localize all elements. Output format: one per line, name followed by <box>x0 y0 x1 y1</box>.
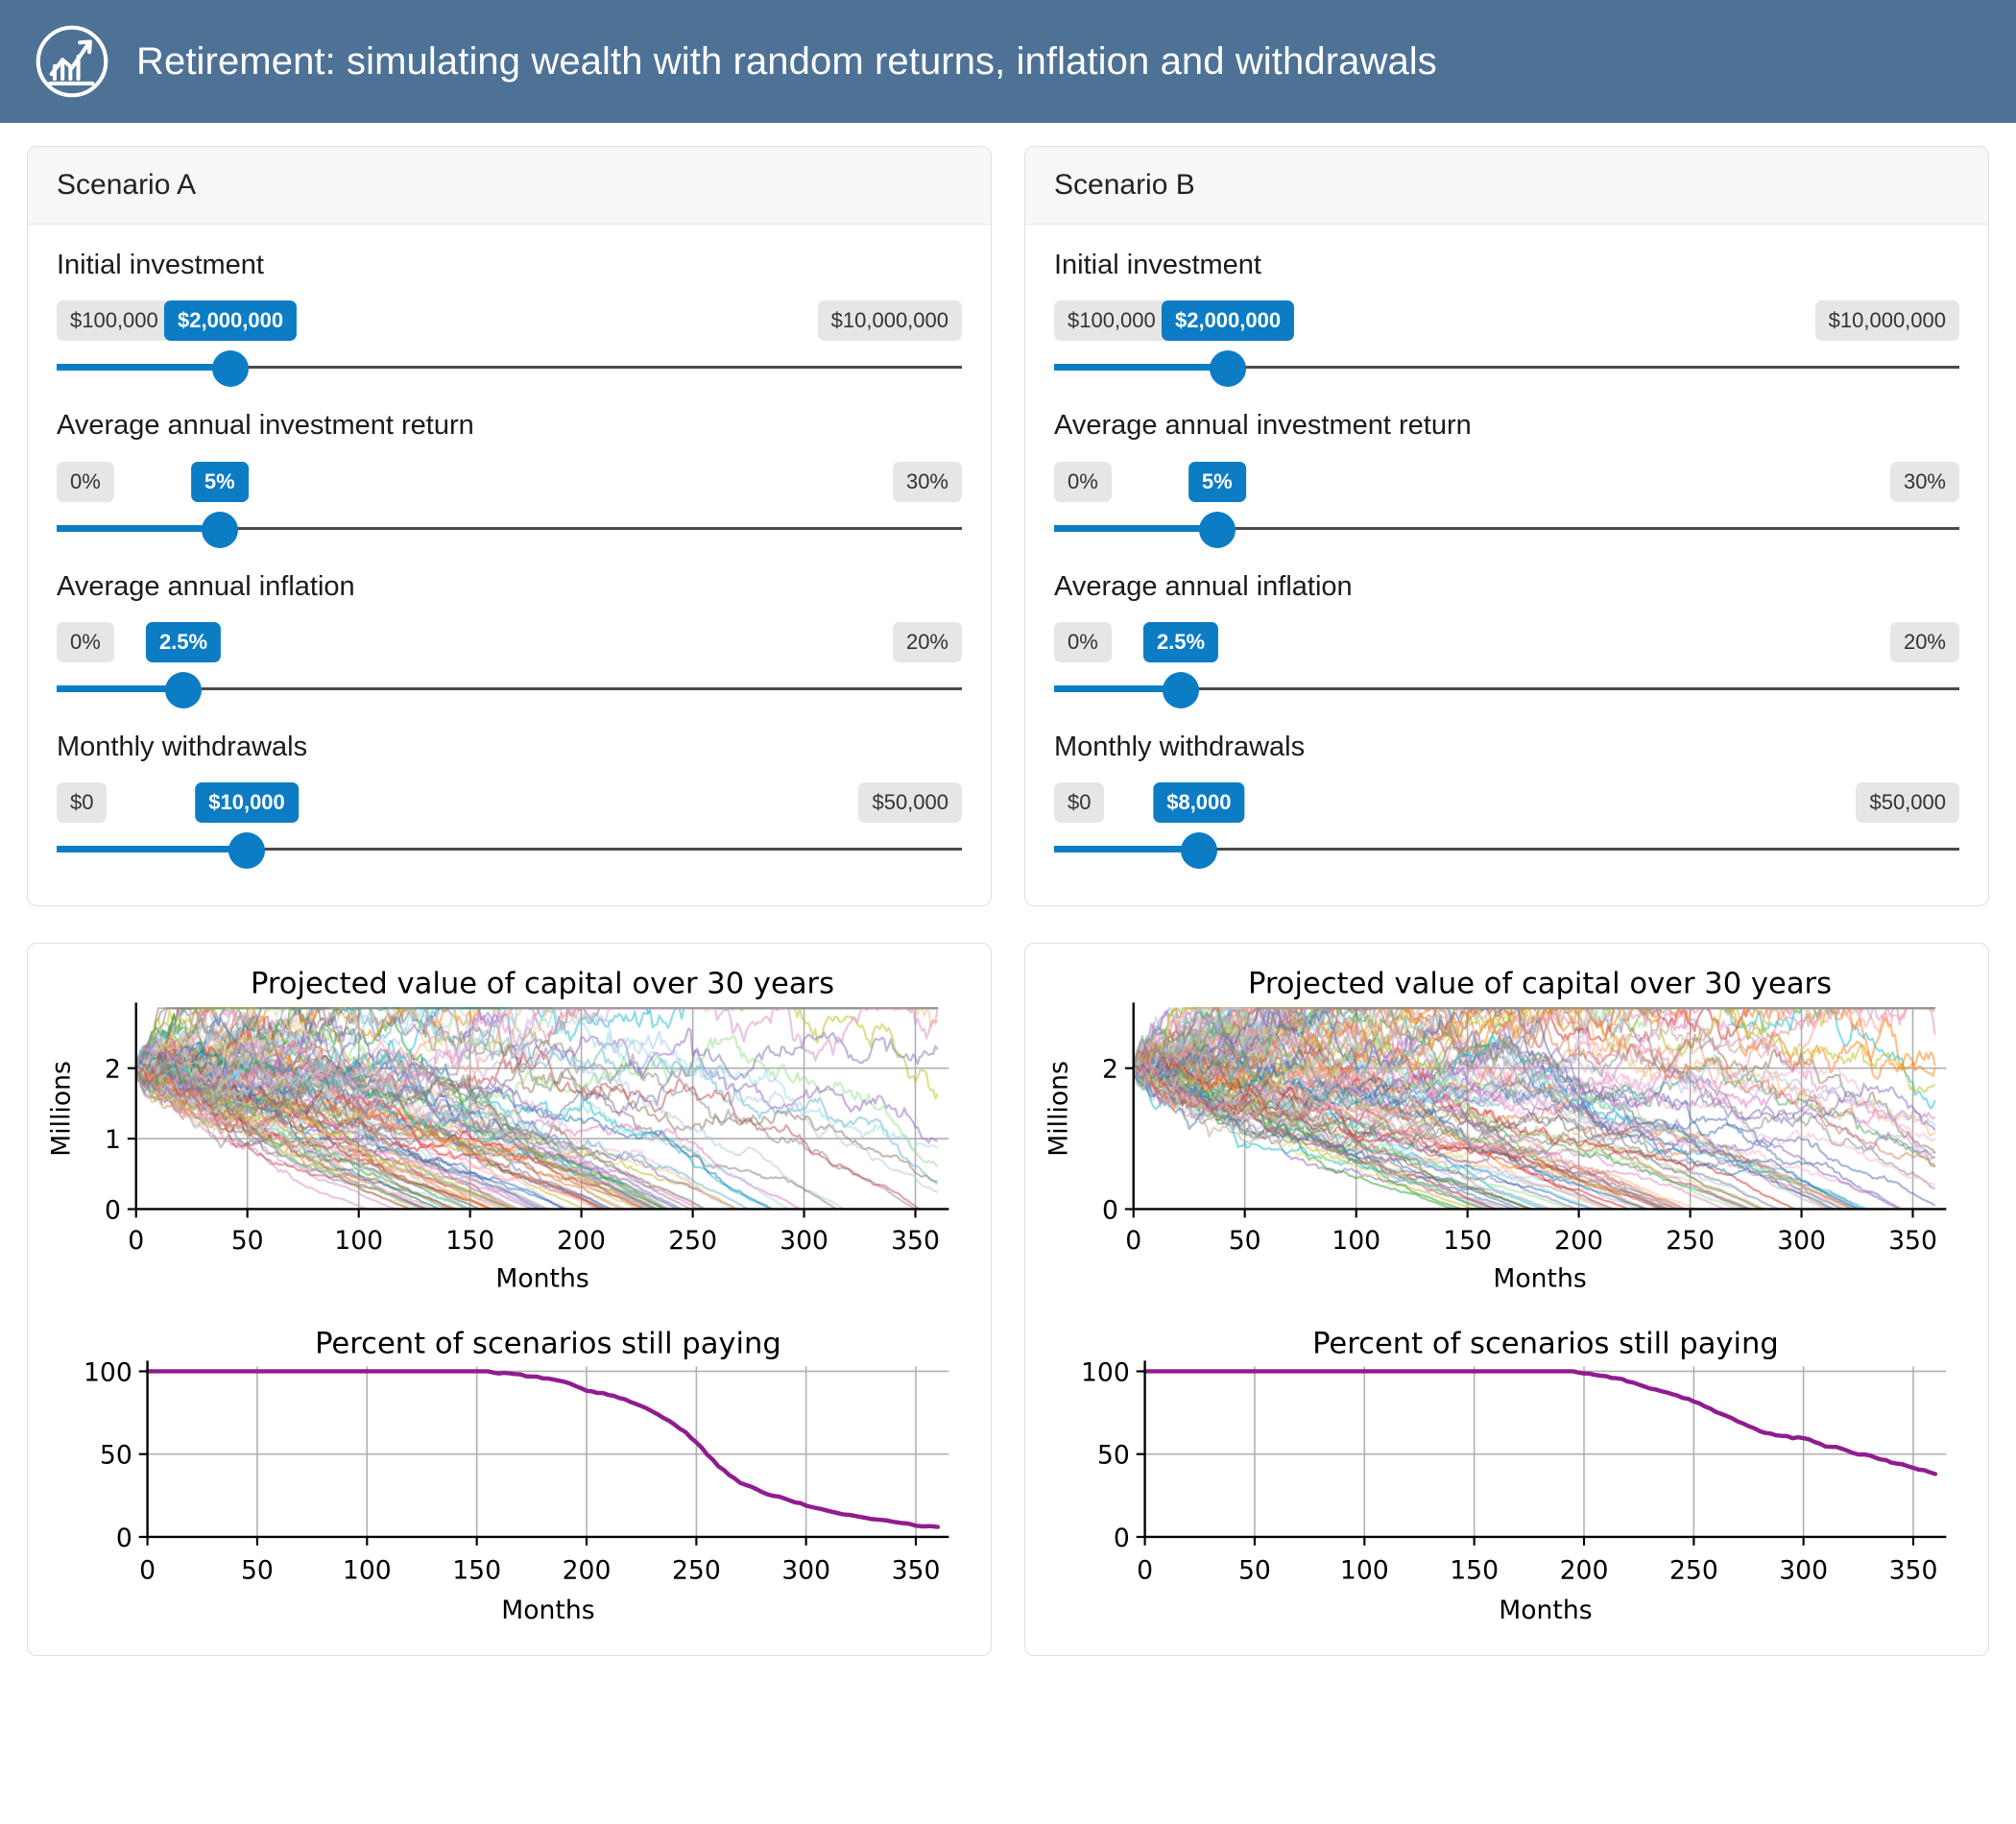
control-pills: $0 $10,000 $50,000 <box>57 782 962 825</box>
slider-thumb[interactable] <box>1163 672 1199 708</box>
slider-max-label: 20% <box>893 622 962 662</box>
svg-text:Percent of scenarios still pay: Percent of scenarios still paying <box>1312 1327 1779 1360</box>
svg-text:Projected value of capital ove: Projected value of capital over 30 years <box>1248 968 1832 1001</box>
control-initial-investment-b: Initial investment $100,000 $2,000,000 $… <box>1054 250 1959 387</box>
slider-fill <box>57 846 247 852</box>
slider-thumb[interactable] <box>165 672 202 708</box>
scenario-b-title: Scenario B <box>1054 169 1959 202</box>
svg-text:0: 0 <box>116 1523 132 1552</box>
slider-min-label: $0 <box>1054 782 1104 823</box>
slider-min-label: 0% <box>57 622 114 662</box>
page-title: Retirement: simulating wealth with rando… <box>136 40 1437 84</box>
slider-value-badge: 2.5% <box>146 622 221 662</box>
slider-min-label: $0 <box>57 782 107 823</box>
slider-average-annual-inflation-a[interactable] <box>57 670 962 708</box>
control-pills: $100,000 $2,000,000 $10,000,000 <box>1054 300 1959 343</box>
svg-text:200: 200 <box>563 1555 612 1585</box>
svg-text:250: 250 <box>672 1555 721 1585</box>
slider-average-annual-investment-return-b[interactable] <box>1054 510 1959 548</box>
control-monthly-withdrawals-b: Monthly withdrawals $0 $8,000 $50,000 <box>1054 732 1959 869</box>
svg-text:150: 150 <box>1443 1226 1492 1256</box>
svg-text:100: 100 <box>343 1555 392 1585</box>
slider-initial-investment-b[interactable] <box>1054 348 1959 387</box>
page-content: Scenario A Initial investment $100,000 $… <box>0 123 2016 1656</box>
slider-fill <box>1054 525 1217 532</box>
control-initial-investment-a: Initial investment $100,000 $2,000,000 $… <box>57 250 962 387</box>
svg-text:100: 100 <box>1332 1226 1380 1256</box>
svg-text:300: 300 <box>781 1555 830 1585</box>
control-monthly-withdrawals-a: Monthly withdrawals $0 $10,000 $50,000 <box>57 732 962 869</box>
svg-text:2: 2 <box>105 1055 121 1085</box>
figure-percent-b: 050100150200250300350050100MonthsPercent… <box>1043 1319 1971 1637</box>
slider-value-badge: 5% <box>1188 462 1246 502</box>
slider-max-label: 30% <box>1890 462 1959 502</box>
control-pills: 0% 2.5% 20% <box>57 622 962 664</box>
slider-initial-investment-a[interactable] <box>57 348 962 387</box>
control-pills: 0% 5% 30% <box>1054 462 1959 504</box>
svg-text:100: 100 <box>334 1226 383 1256</box>
scenario-a-header: Scenario A <box>28 147 991 225</box>
svg-text:50: 50 <box>1097 1440 1130 1470</box>
svg-text:0: 0 <box>1125 1226 1141 1256</box>
svg-text:0: 0 <box>139 1555 156 1585</box>
svg-text:150: 150 <box>452 1555 501 1585</box>
slider-value-badge: $2,000,000 <box>1162 300 1294 341</box>
svg-text:Months: Months <box>1499 1595 1592 1624</box>
scenario-b-controls: Initial investment $100,000 $2,000,000 $… <box>1025 225 1988 905</box>
svg-text:300: 300 <box>1777 1226 1826 1256</box>
svg-text:300: 300 <box>1779 1555 1828 1585</box>
scenario-b-card: Scenario B Initial investment $100,000 $… <box>1024 146 1989 906</box>
control-label: Monthly withdrawals <box>57 732 962 763</box>
slider-thumb[interactable] <box>1181 832 1217 869</box>
slider-fill <box>57 525 220 532</box>
scenario-a-figures: 050100150200250300350012MonthsMillionsPr… <box>28 944 991 1655</box>
slider-thumb[interactable] <box>228 832 265 869</box>
svg-text:Millions: Millions <box>1044 1061 1074 1157</box>
control-label: Monthly withdrawals <box>1054 732 1959 763</box>
scenario-a-charts-card: 050100150200250300350012MonthsMillionsPr… <box>27 943 992 1656</box>
control-pills: $100,000 $2,000,000 $10,000,000 <box>57 300 962 343</box>
control-average-annual-inflation-b: Average annual inflation 0% 2.5% 20% <box>1054 571 1959 708</box>
svg-text:Months: Months <box>1493 1264 1586 1294</box>
svg-text:200: 200 <box>1554 1226 1603 1256</box>
slider-value-badge: $2,000,000 <box>164 300 297 341</box>
svg-text:Millions: Millions <box>47 1061 77 1157</box>
slider-max-label: $50,000 <box>1856 782 1959 823</box>
svg-text:200: 200 <box>1560 1555 1609 1585</box>
svg-text:0: 0 <box>1114 1523 1130 1552</box>
slider-average-annual-inflation-b[interactable] <box>1054 670 1959 708</box>
svg-text:0: 0 <box>128 1226 144 1256</box>
scenario-b-charts-card: 05010015020025030035002MonthsMillionsPro… <box>1024 943 1989 1656</box>
svg-text:350: 350 <box>892 1555 941 1585</box>
svg-text:Months: Months <box>495 1264 588 1294</box>
slider-thumb[interactable] <box>1210 350 1246 387</box>
scenario-a-card: Scenario A Initial investment $100,000 $… <box>27 146 992 906</box>
scenario-a-controls: Initial investment $100,000 $2,000,000 $… <box>28 225 991 905</box>
svg-text:Months: Months <box>501 1595 594 1624</box>
slider-min-label: 0% <box>1054 622 1112 662</box>
scenario-controls-row: Scenario A Initial investment $100,000 $… <box>27 146 1989 906</box>
slider-max-label: $10,000,000 <box>1815 300 1959 341</box>
figure-capital-b: 05010015020025030035002MonthsMillionsPro… <box>1043 959 1971 1305</box>
control-label: Average annual investment return <box>57 410 962 442</box>
control-label: Initial investment <box>57 250 962 281</box>
svg-text:100: 100 <box>1081 1357 1130 1387</box>
slider-max-label: 20% <box>1890 622 1959 662</box>
slider-max-label: 30% <box>893 462 962 502</box>
svg-text:100: 100 <box>1340 1555 1389 1585</box>
svg-text:Projected value of capital ove: Projected value of capital over 30 years <box>251 968 834 1001</box>
scenario-b-figures: 05010015020025030035002MonthsMillionsPro… <box>1025 944 1988 1655</box>
svg-text:50: 50 <box>1238 1555 1271 1585</box>
svg-text:300: 300 <box>780 1226 828 1256</box>
control-label: Average annual investment return <box>1054 410 1959 442</box>
svg-text:100: 100 <box>84 1357 132 1387</box>
slider-fill <box>57 364 230 371</box>
control-average-annual-investment-return-b: Average annual investment return 0% 5% 3… <box>1054 410 1959 547</box>
scenario-a-title: Scenario A <box>57 169 962 202</box>
svg-text:Percent of scenarios still pay: Percent of scenarios still paying <box>315 1327 781 1360</box>
figure-percent-a: 050100150200250300350050100MonthsPercent… <box>45 1319 973 1637</box>
slider-min-label: 0% <box>1054 462 1112 502</box>
svg-text:150: 150 <box>1450 1555 1499 1585</box>
svg-text:0: 0 <box>1137 1555 1153 1585</box>
svg-text:50: 50 <box>100 1440 132 1470</box>
control-label: Average annual inflation <box>1054 571 1959 603</box>
svg-text:250: 250 <box>1666 1226 1715 1256</box>
svg-text:350: 350 <box>1888 1226 1937 1256</box>
slider-value-badge: $8,000 <box>1153 782 1244 823</box>
svg-text:50: 50 <box>241 1555 274 1585</box>
svg-text:200: 200 <box>557 1226 606 1256</box>
slider-value-badge: 5% <box>191 462 249 502</box>
slider-value-badge: 2.5% <box>1143 622 1218 662</box>
svg-text:150: 150 <box>445 1226 494 1256</box>
control-label: Initial investment <box>1054 250 1959 281</box>
svg-text:1: 1 <box>105 1125 121 1155</box>
figure-capital-a: 050100150200250300350012MonthsMillionsPr… <box>45 959 973 1305</box>
scenario-b-header: Scenario B <box>1025 147 1988 225</box>
control-average-annual-inflation-a: Average annual inflation 0% 2.5% 20% <box>57 571 962 708</box>
svg-text:0: 0 <box>1102 1196 1118 1226</box>
slider-min-label: $100,000 <box>1054 300 1169 341</box>
slider-min-label: 0% <box>57 462 114 502</box>
slider-fill <box>1054 364 1228 371</box>
control-pills: $0 $8,000 $50,000 <box>1054 782 1959 825</box>
slider-thumb[interactable] <box>1199 512 1236 548</box>
control-pills: 0% 2.5% 20% <box>1054 622 1959 664</box>
slider-min-label: $100,000 <box>57 300 172 341</box>
svg-text:250: 250 <box>1669 1555 1718 1585</box>
svg-text:350: 350 <box>1889 1555 1938 1585</box>
slider-thumb[interactable] <box>202 512 238 548</box>
slider-max-label: $10,000,000 <box>818 300 962 341</box>
control-label: Average annual inflation <box>57 571 962 603</box>
slider-average-annual-investment-return-a[interactable] <box>57 510 962 548</box>
control-average-annual-investment-return-a: Average annual investment return 0% 5% 3… <box>57 410 962 547</box>
control-pills: 0% 5% 30% <box>57 462 962 504</box>
slider-monthly-withdrawals-a[interactable] <box>57 830 962 869</box>
svg-text:250: 250 <box>668 1226 717 1256</box>
scenario-charts-row: 050100150200250300350012MonthsMillionsPr… <box>27 943 1989 1656</box>
svg-text:2: 2 <box>1102 1055 1118 1085</box>
slider-thumb[interactable] <box>212 350 249 387</box>
svg-text:350: 350 <box>891 1226 940 1256</box>
slider-value-badge: $10,000 <box>195 782 299 823</box>
svg-text:0: 0 <box>105 1196 121 1226</box>
app-header: Retirement: simulating wealth with rando… <box>0 0 2016 123</box>
svg-text:50: 50 <box>231 1226 264 1256</box>
slider-fill <box>1054 846 1199 852</box>
slider-monthly-withdrawals-b[interactable] <box>1054 830 1959 869</box>
slider-max-label: $50,000 <box>858 782 962 823</box>
growth-chart-circle-icon <box>33 22 111 101</box>
svg-text:50: 50 <box>1229 1226 1261 1256</box>
